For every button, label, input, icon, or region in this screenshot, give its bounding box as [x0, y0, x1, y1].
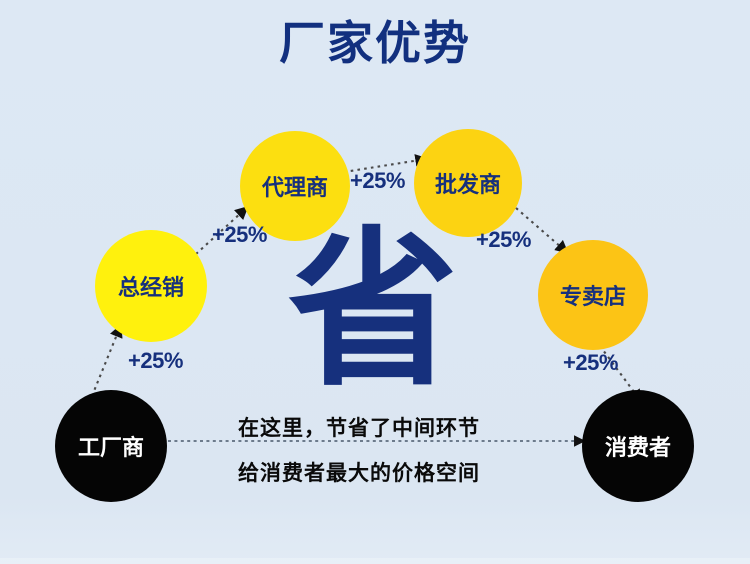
bottom-edge-strip [0, 558, 750, 564]
node-factory-label: 工厂商 [78, 430, 144, 462]
node-factory[interactable]: 工厂商 [55, 390, 167, 502]
node-wholesaler-label: 批发商 [435, 167, 501, 199]
markup-label-step3: +25% [350, 168, 405, 194]
node-consumer[interactable]: 消费者 [582, 390, 694, 502]
markup-label-step2: +25% [212, 222, 267, 248]
connector-factory-to-general-agent [92, 332, 118, 396]
slogan-line-2: 给消费者最大的价格空间 [238, 457, 480, 487]
node-specialty-store[interactable]: 专卖店 [538, 240, 648, 350]
markup-label-step4: +25% [476, 227, 531, 253]
node-specialty-store-label: 专卖店 [560, 279, 626, 311]
slogan-line-1: 在这里，节省了中间环节 [238, 412, 480, 442]
markup-label-step5: +25% [563, 350, 618, 376]
node-wholesaler[interactable]: 批发商 [414, 129, 522, 237]
node-consumer-label: 消费者 [605, 430, 671, 462]
markup-label-step1: +25% [128, 348, 183, 374]
node-general-agent-label: 总经销 [118, 270, 184, 302]
node-agent-label: 代理商 [262, 170, 328, 202]
infographic-canvas: 厂家优势 省 [0, 0, 750, 564]
node-general-agent[interactable]: 总经销 [95, 230, 207, 342]
